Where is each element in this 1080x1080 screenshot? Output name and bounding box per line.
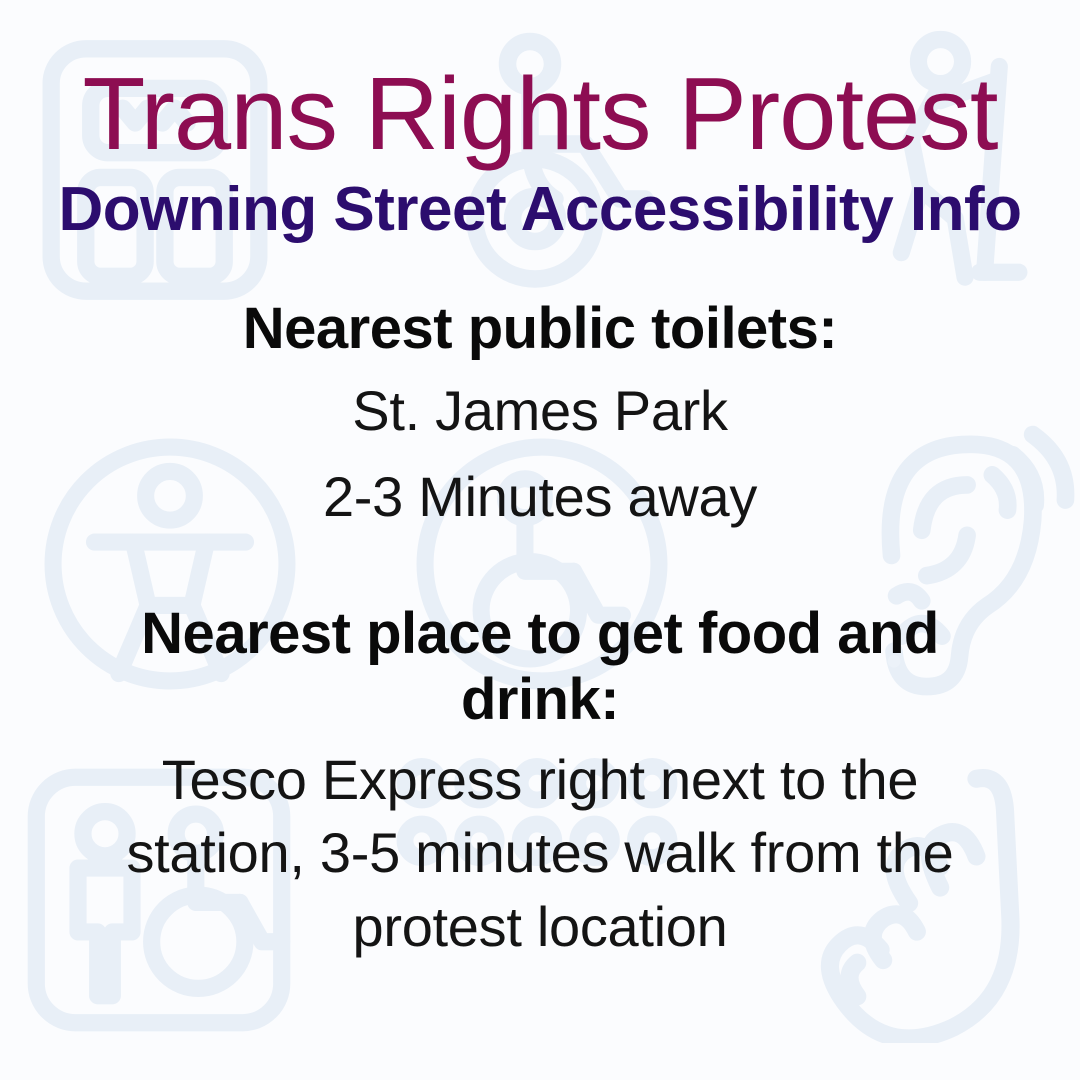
section-nearest-toilets: Nearest public toilets: St. James Park 2…: [18, 296, 1062, 533]
poster-canvas: Trans Rights Protest Downing Street Acce…: [0, 0, 1080, 1080]
section-line-toilets-2: 2-3 Minutes away: [18, 460, 1062, 534]
section-line-toilets-1: St. James Park: [18, 374, 1062, 448]
page-title: Trans Rights Protest: [18, 0, 1062, 165]
section-heading-toilets: Nearest public toilets:: [18, 296, 1062, 362]
section-line-food-1: Tesco Express right next to the station,…: [70, 743, 1010, 965]
section-heading-food: Nearest place to get food and drink:: [70, 601, 1010, 732]
page-subtitle: Downing Street Accessibility Info: [18, 165, 1062, 242]
poster-content: Trans Rights Protest Downing Street Acce…: [0, 0, 1080, 1080]
section-nearest-food: Nearest place to get food and drink: Tes…: [18, 601, 1062, 964]
